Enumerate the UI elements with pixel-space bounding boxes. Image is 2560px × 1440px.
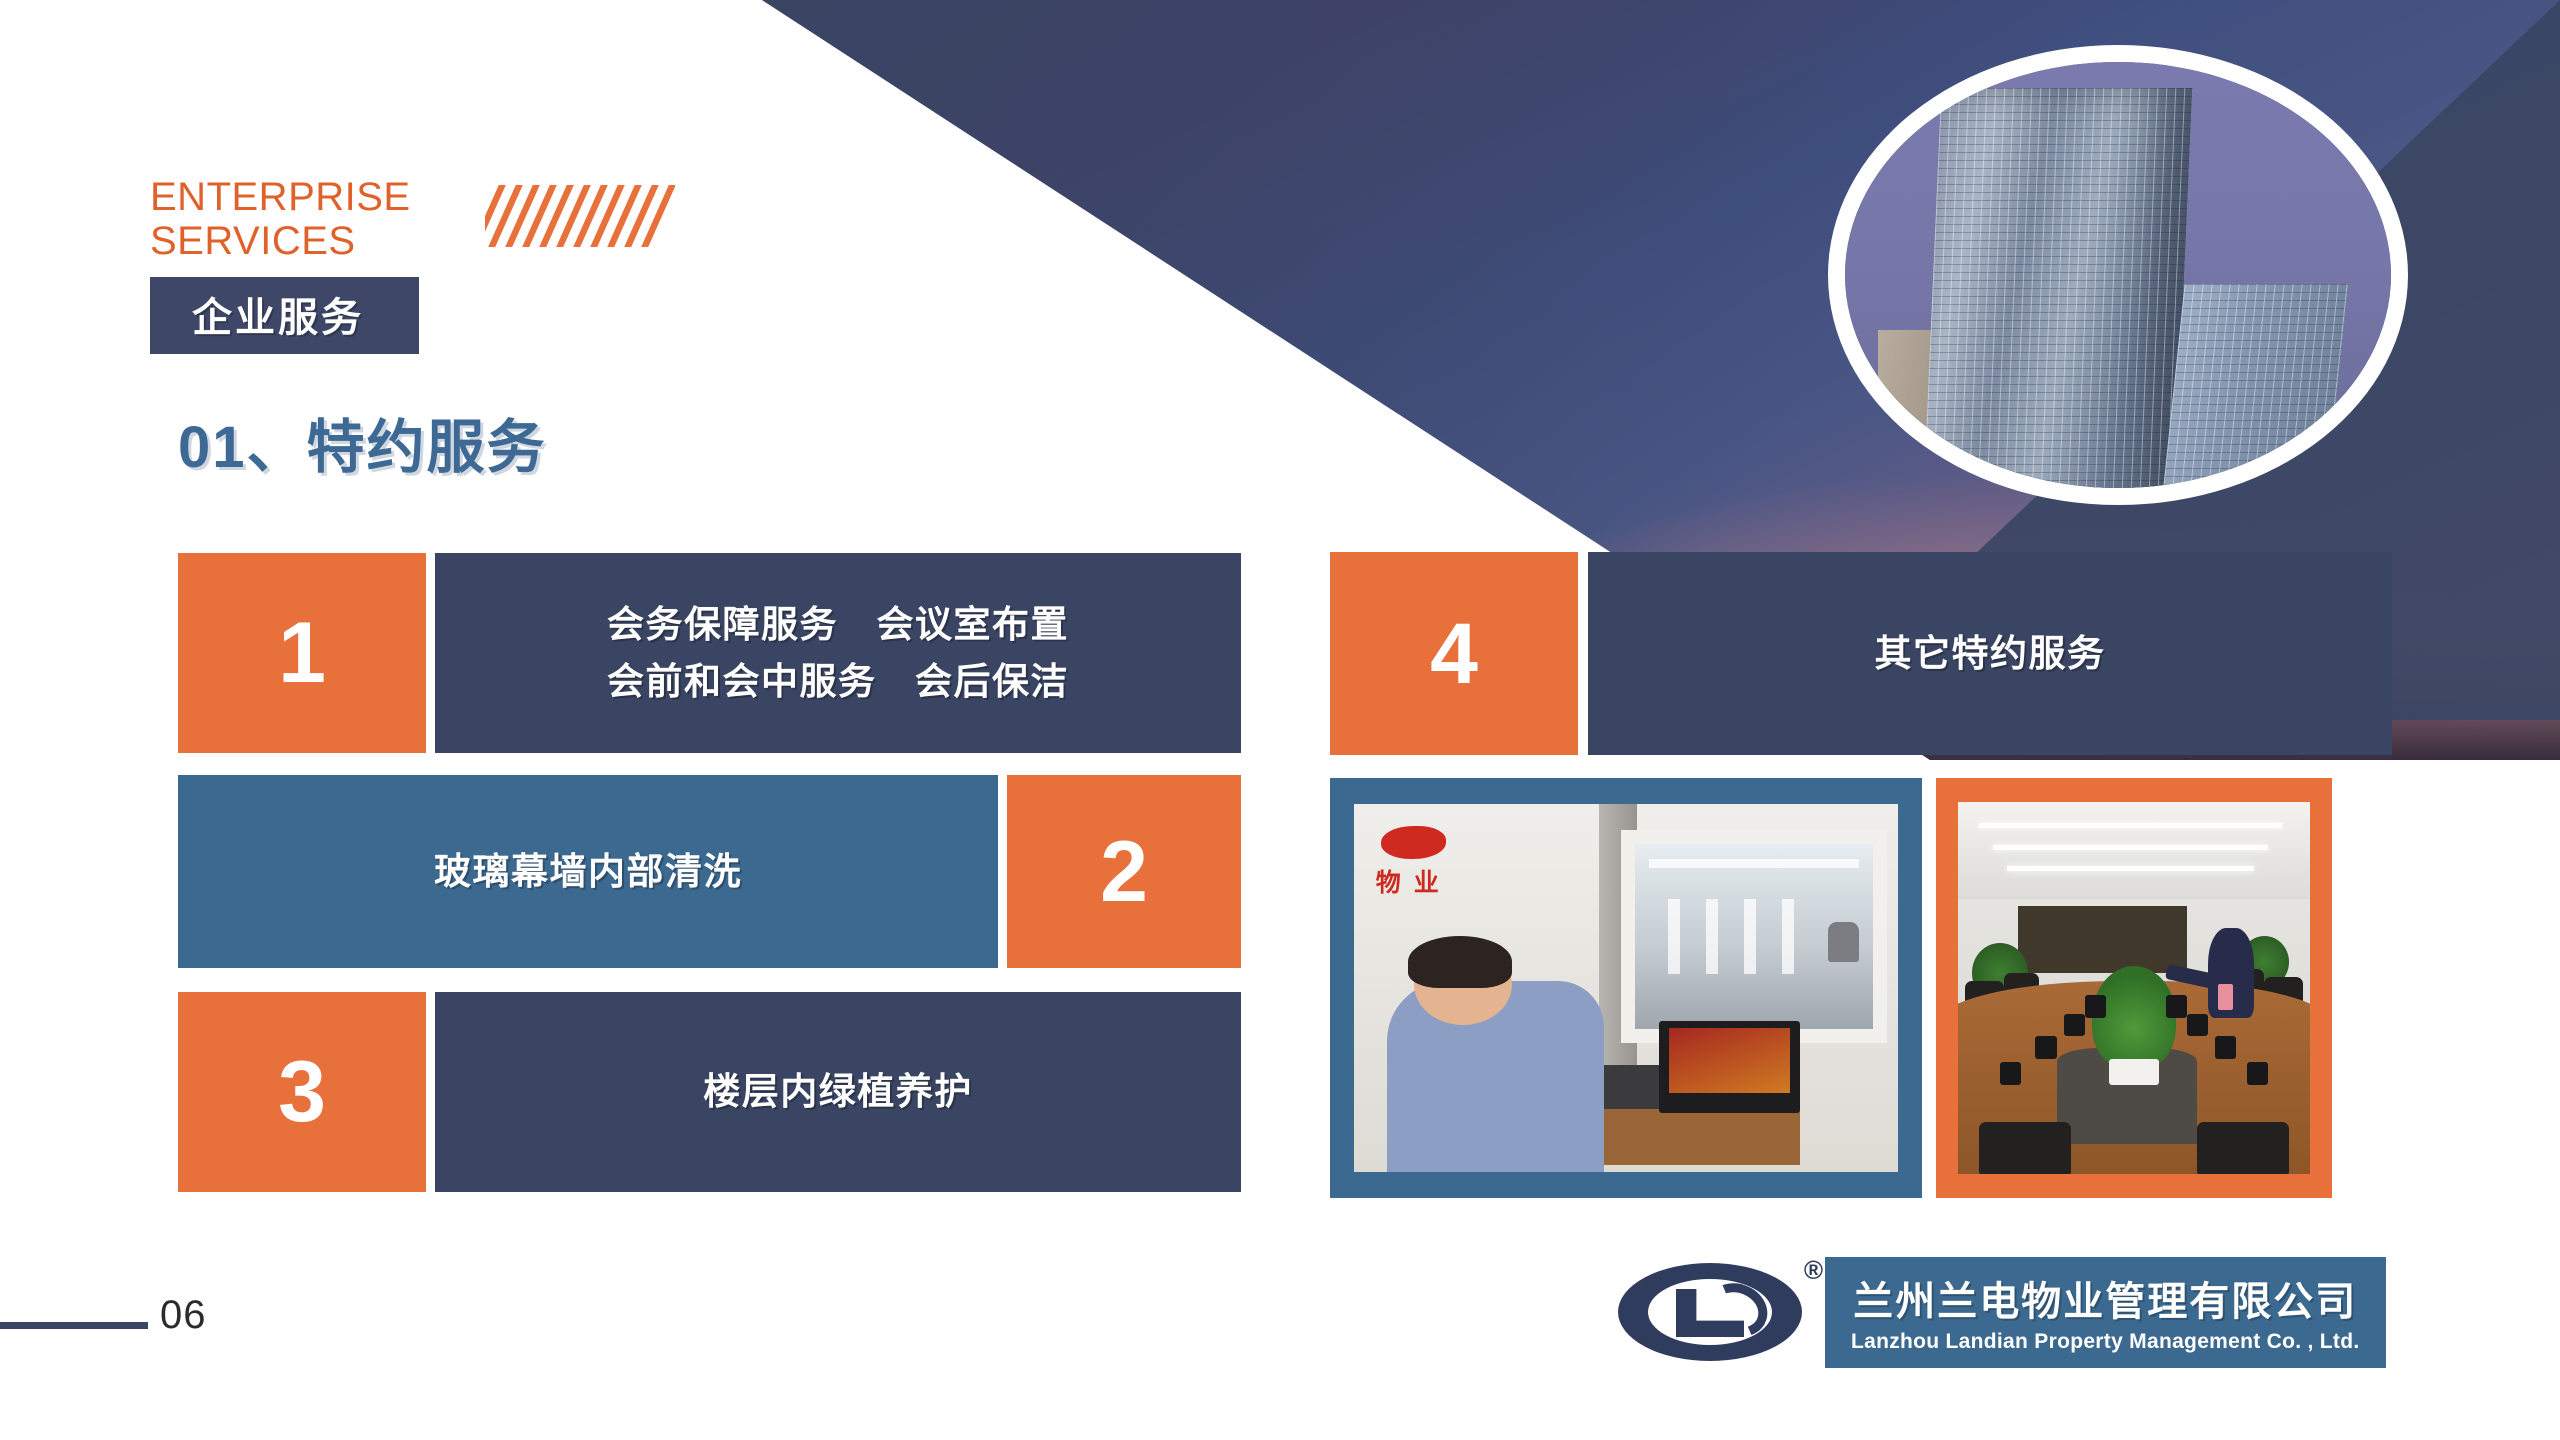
service-card-4-text: 其它特约服务 xyxy=(1588,552,2392,755)
service-card-2: 玻璃幕墙内部清洗 2 xyxy=(178,775,1241,968)
service-card-1-number: 1 xyxy=(178,553,426,753)
header-block: ENTERPRISE SERVICES 企业服务 xyxy=(150,175,870,354)
service-card-1-text: 会务保障服务 会议室布置 会前和会中服务 会后保洁 xyxy=(435,553,1241,753)
service-card-4: 4 其它特约服务 xyxy=(1330,552,2392,755)
conference-room-setup-photo xyxy=(1958,802,2310,1174)
page-number-rule xyxy=(0,1322,148,1329)
service-card-2-number: 2 xyxy=(1007,775,1241,968)
circle-white-ring xyxy=(1828,45,2408,505)
service-card-4-number: 4 xyxy=(1330,552,1578,755)
photo-frame-engineer: 物 业 xyxy=(1330,778,1922,1198)
engineer-at-control-desk-photo: 物 业 xyxy=(1354,804,1898,1172)
company-name-cn: 兰州兰电物业管理有限公司 xyxy=(1851,1269,2360,1327)
service-card-1: 1 会务保障服务 会议室布置 会前和会中服务 会后保洁 xyxy=(178,553,1241,753)
service-card-3: 3 楼层内绿植养护 xyxy=(178,992,1241,1192)
slide-canvas: ENTERPRISE SERVICES 企业服务 01、特约服务 1 会务保障服… xyxy=(0,0,2560,1440)
header-badge: 企业服务 xyxy=(150,277,419,354)
registered-trademark-icon: ® xyxy=(1804,1255,1823,1286)
hatch-stripes-decoration xyxy=(485,185,675,247)
section-title: 01、特约服务 xyxy=(178,400,547,484)
service-card-3-number: 3 xyxy=(178,992,426,1192)
brand-name-plate: 兰州兰电物业管理有限公司 Lanzhou Landian Property Ma… xyxy=(1825,1257,2386,1368)
company-name-en: Lanzhou Landian Property Management Co. … xyxy=(1851,1330,2360,1354)
header-badge-label: 企业服务 xyxy=(192,296,364,340)
brand-lockup: ® 兰州兰电物业管理有限公司 Lanzhou Landian Property … xyxy=(1610,1253,2386,1371)
photo-frame-conference xyxy=(1936,778,2332,1198)
service-card-2-text: 玻璃幕墙内部清洗 xyxy=(178,775,998,968)
circle-photo-inset xyxy=(1828,45,2408,505)
service-card-3-text: 楼层内绿植养护 xyxy=(435,992,1241,1192)
photo-logo-label: 物 业 xyxy=(1376,863,1442,899)
skyscraper-photo xyxy=(1845,62,2391,488)
page-number: 06 xyxy=(160,1293,207,1338)
company-logo-icon: ® xyxy=(1610,1253,1825,1371)
